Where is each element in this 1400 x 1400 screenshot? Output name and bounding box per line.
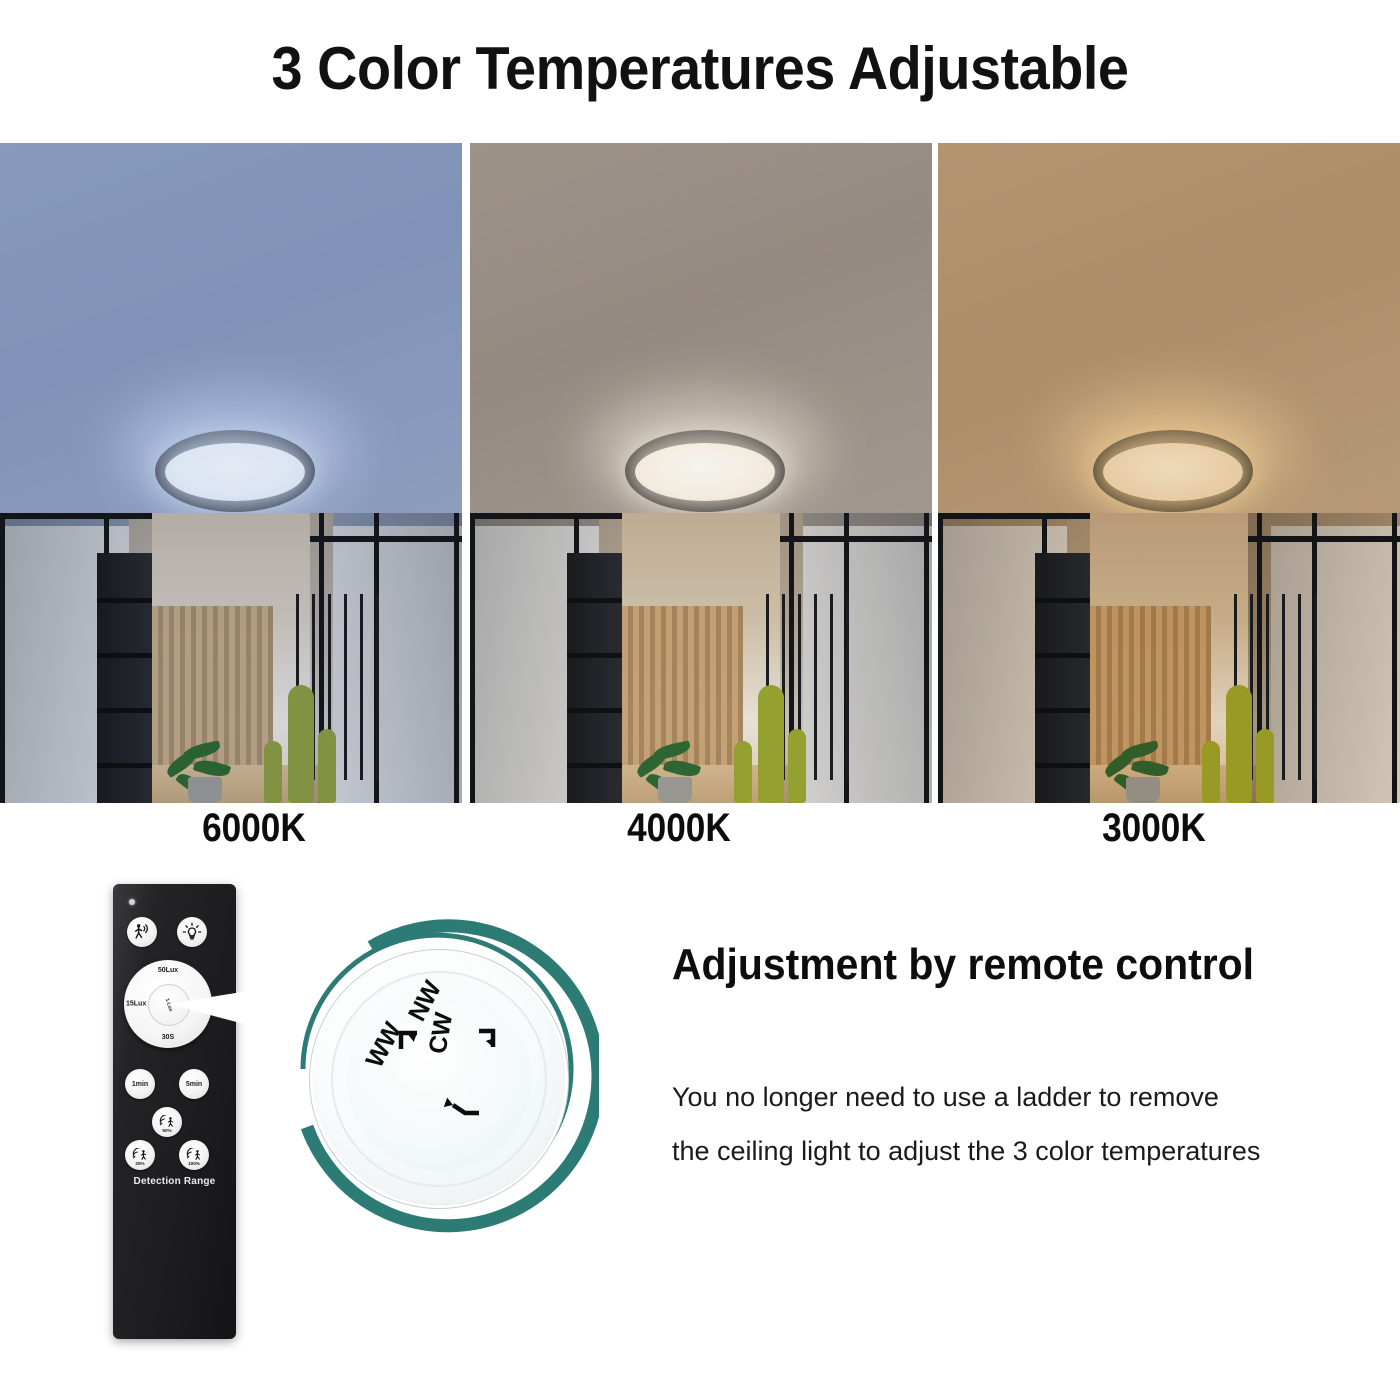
ceiling-light-diagram: NW WW CW <box>279 919 599 1239</box>
fixture-diffuser <box>165 443 304 500</box>
ceiling-light-fixture <box>155 430 315 512</box>
color-temperature-photo-strip <box>0 143 1400 803</box>
kelvin-label-4000k: 4000K <box>627 806 731 851</box>
leafy-plant <box>632 683 722 803</box>
kelvin-label-3000k: 3000K <box>1102 806 1206 851</box>
leafy-plant <box>1100 683 1190 803</box>
detection-range-caption: Detection Range <box>113 1176 236 1187</box>
corridor-scene <box>0 513 462 803</box>
motion-sensor-icon <box>132 922 152 942</box>
radar-person-icon <box>185 1148 204 1162</box>
dial-label-left: 15Lux <box>126 1001 146 1008</box>
ceiling-light-fixture <box>625 430 785 512</box>
kelvin-label-row: 6000K 4000K 3000K <box>0 806 1400 858</box>
corridor-scene <box>938 513 1400 803</box>
scene-photo-3000k <box>938 143 1400 803</box>
shelving-unit <box>567 553 622 803</box>
detection-range-100-button[interactable]: 100% <box>179 1140 209 1170</box>
radar-person-icon <box>158 1115 177 1129</box>
detection-range-50-button[interactable]: 50% <box>152 1107 182 1137</box>
detection-range-100-label: 100% <box>179 1162 209 1167</box>
callout-heading: Adjustment by remote control <box>672 940 1254 990</box>
fixture-diffuser <box>635 443 774 500</box>
page-title: 3 Color Temperatures Adjustable <box>49 34 1351 103</box>
dial-label-bottom: 30S <box>162 1034 174 1041</box>
dial-label-top: 50Lux <box>158 967 178 974</box>
leafy-plant <box>162 683 252 803</box>
kelvin-label-6000k: 6000K <box>202 806 306 851</box>
cactus-plant <box>250 653 360 803</box>
scene-photo-6000k <box>0 143 462 803</box>
timer-5min-button[interactable]: 5min <box>179 1069 209 1099</box>
detection-range-25-label: 25% <box>125 1162 155 1167</box>
callout-line-1: You no longer need to use a ladder to re… <box>672 1082 1219 1113</box>
detection-range-50-label: 50% <box>152 1129 182 1134</box>
timer-1min-button[interactable]: 1min <box>125 1069 155 1099</box>
fixture-diffuser <box>1103 443 1242 500</box>
corridor-scene <box>470 513 932 803</box>
light-power-button[interactable] <box>177 917 207 947</box>
cactus-plant <box>720 653 830 803</box>
callout-line-2: the ceiling light to adjust the 3 color … <box>672 1136 1260 1167</box>
ceiling-light-fixture <box>1093 430 1253 512</box>
led-indicator-icon <box>129 899 135 905</box>
cactus-plant <box>1188 653 1298 803</box>
ceiling-lamp-body: NW WW CW <box>313 953 565 1205</box>
radar-person-icon <box>131 1148 150 1162</box>
remote-control[interactable]: 50Lux 15Lux 30S 1-Lux 1min 5min 50% 25% <box>113 884 236 1339</box>
shelving-unit <box>1035 553 1090 803</box>
light-bulb-icon <box>182 922 202 942</box>
detection-range-25-button[interactable]: 25% <box>125 1140 155 1170</box>
shelving-unit <box>97 553 152 803</box>
scene-photo-4000k <box>470 143 932 803</box>
motion-sensor-button[interactable] <box>127 917 157 947</box>
